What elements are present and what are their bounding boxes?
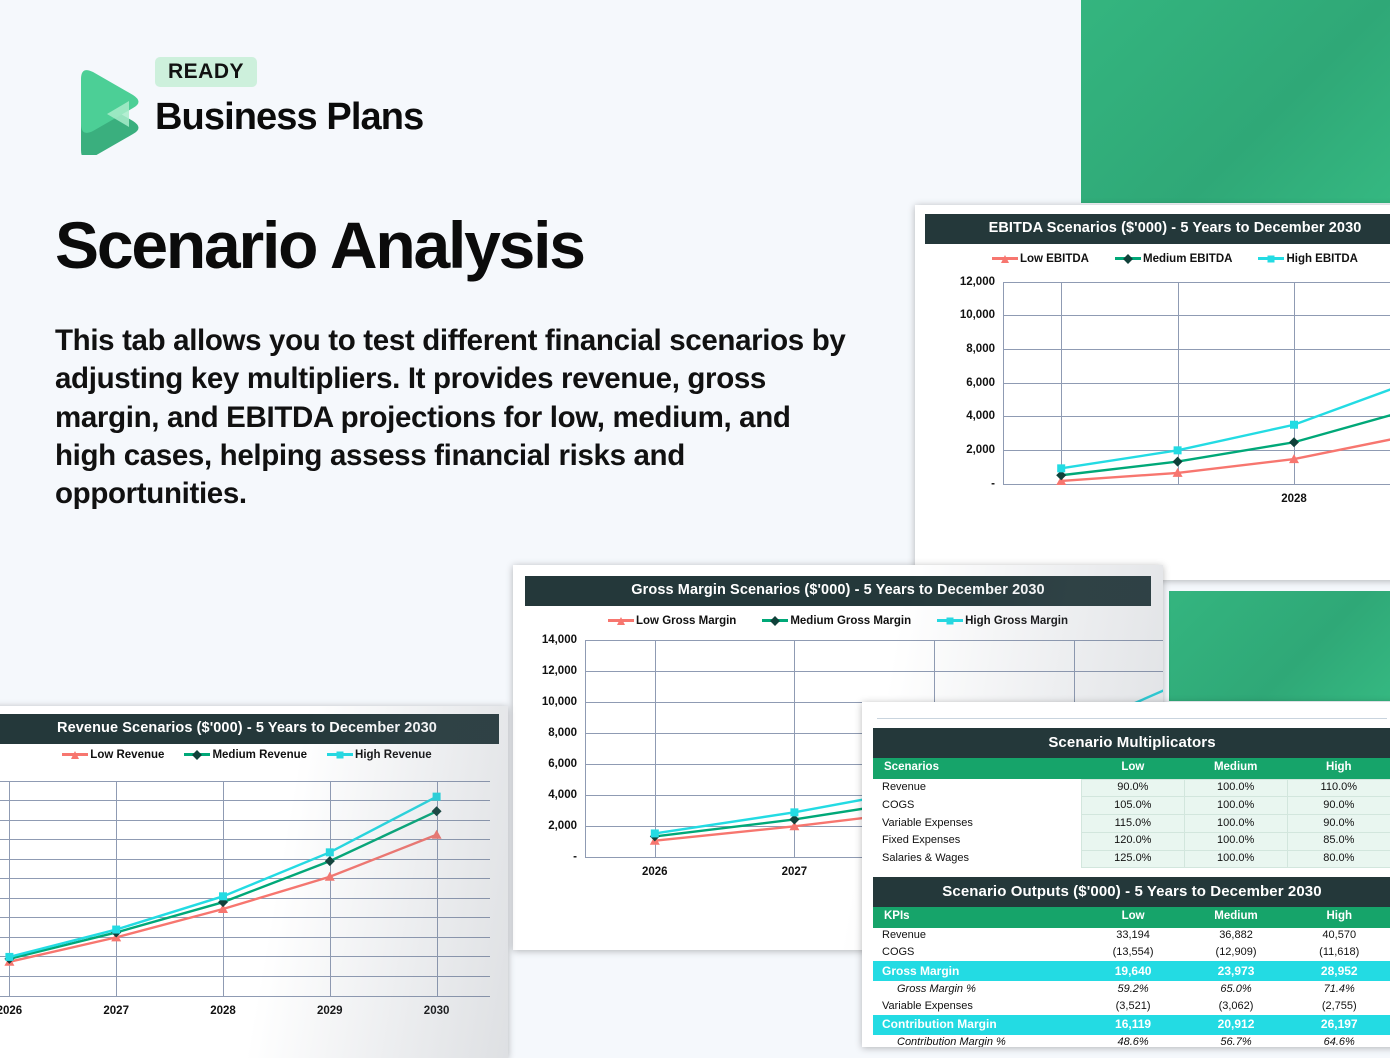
data-point — [5, 952, 13, 960]
data-point — [1290, 420, 1298, 428]
col-low: Low — [1081, 758, 1184, 779]
row-label: Gross Margin % — [873, 981, 1082, 998]
data-point — [432, 806, 442, 816]
row-label: Revenue — [873, 928, 1082, 945]
cell-low: 120.0% — [1081, 832, 1184, 850]
brand-header: READY Business Plans — [55, 55, 435, 160]
cell-high: 64.6% — [1288, 1035, 1390, 1047]
row-label: COGS — [873, 945, 1082, 962]
legend-label: High EBITDA — [1286, 253, 1358, 265]
play-triangle-logo-icon — [55, 55, 147, 155]
table-row: Revenue90.0%100.0%110.0% — [873, 779, 1390, 797]
cell-low: (13,554) — [1082, 945, 1185, 962]
data-point — [1173, 456, 1183, 466]
data-point — [1174, 446, 1182, 454]
cell-medium: (12,909) — [1185, 945, 1288, 962]
chart-title-revenue: Revenue Scenarios ($'000) - 5 Years to D… — [0, 714, 499, 744]
data-point — [219, 892, 227, 900]
row-label: Contribution Margin % — [873, 1035, 1082, 1047]
row-label: COGS — [873, 797, 1081, 815]
cell-high: 26,197 — [1288, 1015, 1390, 1035]
chart-legend-ebitda: Low EBITDA Medium EBITDA High EBITDA — [915, 244, 1390, 268]
cell-low: 59.2% — [1082, 981, 1185, 998]
table-row: Gross Margin19,64023,97328,952 — [873, 961, 1390, 981]
data-point — [112, 925, 120, 933]
chart-title-ebitda: EBITDA Scenarios ($'000) - 5 Years to De… — [925, 214, 1390, 244]
table-row: Revenue33,19436,88240,570 — [873, 928, 1390, 945]
legend-label: Low Gross Margin — [636, 615, 736, 627]
table-row: COGS105.0%100.0%90.0% — [873, 797, 1390, 815]
cell-low: 33,194 — [1082, 928, 1185, 945]
row-label: Fixed Expenses — [873, 832, 1081, 850]
legend-label: High Revenue — [355, 749, 432, 761]
cell-medium: 36,882 — [1185, 928, 1288, 945]
cell-high: 40,570 — [1288, 928, 1390, 945]
cell-medium: (3,062) — [1185, 998, 1288, 1015]
chart-legend-revenue: Low Revenue Medium Revenue High Revenue — [0, 744, 508, 763]
legend-item-medium-revenue: Medium Revenue — [184, 749, 307, 761]
cell-high: 80.0% — [1287, 850, 1390, 868]
cell-medium: 100.0% — [1184, 815, 1287, 833]
col-high: High — [1287, 758, 1390, 779]
table-header-row: Scenarios Low Medium High — [873, 758, 1390, 779]
plot-area-ebitda: -2,0004,0006,0008,00010,00012,0002028202… — [915, 268, 1390, 538]
table-row: Fixed Expenses120.0%100.0%85.0% — [873, 832, 1390, 850]
table-header-row: KPIs Low Medium High — [873, 907, 1390, 928]
table-row: COGS(13,554)(12,909)(11,618) — [873, 945, 1390, 962]
legend-item-low-gross-margin: Low Gross Margin — [608, 615, 736, 627]
col-low: Low — [1082, 907, 1185, 928]
legend-label: Medium Revenue — [212, 749, 307, 761]
col-scenarios: Scenarios — [873, 758, 1081, 779]
cell-medium: 100.0% — [1184, 797, 1287, 815]
cell-high: 110.0% — [1287, 779, 1390, 797]
col-medium: Medium — [1184, 758, 1287, 779]
cell-high: 90.0% — [1287, 815, 1390, 833]
row-label: Variable Expenses — [873, 815, 1081, 833]
cell-medium: 20,912 — [1185, 1015, 1288, 1035]
table-row: Gross Margin %59.2%65.0%71.4% — [873, 981, 1390, 998]
series-line-high-ebitda — [1061, 329, 1390, 468]
scenario-tables-panel: Scenario Multiplicators Scenarios Low Me… — [862, 702, 1390, 1047]
col-kpis: KPIs — [873, 907, 1082, 928]
cell-medium: 65.0% — [1185, 981, 1288, 998]
legend-item-medium-gross-margin: Medium Gross Margin — [762, 615, 911, 627]
cell-low: 48.6% — [1082, 1035, 1185, 1047]
cell-high: 28,952 — [1288, 961, 1390, 981]
series-line-medium-revenue — [9, 811, 436, 959]
cell-low: 90.0% — [1081, 779, 1184, 797]
cell-low: 125.0% — [1081, 850, 1184, 868]
cell-high: (2,755) — [1288, 998, 1390, 1015]
cell-medium: 100.0% — [1184, 779, 1287, 797]
plot-area-revenue: 20262027202820292030 — [0, 763, 508, 1038]
col-high: High — [1288, 907, 1390, 928]
data-point — [325, 856, 335, 866]
cell-high: 85.0% — [1287, 832, 1390, 850]
legend-item-high-ebitda: High EBITDA — [1258, 253, 1358, 265]
legend-label: Low EBITDA — [1020, 253, 1089, 265]
brand-text: READY Business Plans — [155, 57, 423, 136]
brand-name: Business Plans — [155, 98, 423, 136]
data-point — [432, 829, 442, 838]
cell-medium: 56.7% — [1185, 1035, 1288, 1047]
page-title: Scenario Analysis — [55, 212, 584, 278]
data-point — [1289, 437, 1299, 447]
table-row: Variable Expenses(3,521)(3,062)(2,755) — [873, 998, 1390, 1015]
data-point — [651, 829, 659, 837]
cell-high: (11,618) — [1288, 945, 1390, 962]
decorative-green-block-middle — [1169, 591, 1390, 701]
legend-item-low-ebitda: Low EBITDA — [992, 253, 1089, 265]
cell-low: (3,521) — [1082, 998, 1185, 1015]
table-multiplicators: Scenarios Low Medium High Revenue90.0%10… — [873, 758, 1390, 868]
chart-panel-revenue: Revenue Scenarios ($'000) - 5 Years to D… — [0, 706, 508, 1058]
cell-medium: 100.0% — [1184, 832, 1287, 850]
table-scenario-outputs: KPIs Low Medium High Revenue33,19436,882… — [873, 907, 1390, 1047]
series-line-high-revenue — [9, 796, 436, 956]
table-row: Contribution Margin %48.6%56.7%64.6% — [873, 1035, 1390, 1047]
cell-medium: 23,973 — [1185, 961, 1288, 981]
cell-low: 16,119 — [1082, 1015, 1185, 1035]
legend-item-high-gross-margin: High Gross Margin — [937, 615, 1068, 627]
row-label: Contribution Margin — [873, 1015, 1082, 1035]
chart-legend-gross-margin: Low Gross Margin Medium Gross Margin Hig… — [513, 606, 1163, 630]
cell-low: 115.0% — [1081, 815, 1184, 833]
legend-item-medium-ebitda: Medium EBITDA — [1115, 253, 1232, 265]
table-title-multiplicators: Scenario Multiplicators — [873, 728, 1390, 758]
legend-label: Medium Gross Margin — [790, 615, 911, 627]
data-point — [326, 848, 334, 856]
table-row: Contribution Margin16,11920,91226,197 — [873, 1015, 1390, 1035]
cell-high: 71.4% — [1288, 981, 1390, 998]
row-label: Variable Expenses — [873, 998, 1082, 1015]
table-row: Salaries & Wages125.0%100.0%80.0% — [873, 850, 1390, 868]
cell-low: 105.0% — [1081, 797, 1184, 815]
col-medium: Medium — [1185, 907, 1288, 928]
legend-label: High Gross Margin — [965, 615, 1068, 627]
row-label: Gross Margin — [873, 961, 1082, 981]
legend-label: Medium EBITDA — [1143, 253, 1232, 265]
series-line-medium-ebitda — [1061, 366, 1390, 475]
row-label: Salaries & Wages — [873, 850, 1081, 868]
chart-series-layer — [0, 763, 508, 1038]
chart-panel-ebitda: EBITDA Scenarios ($'000) - 5 Years to De… — [915, 205, 1390, 580]
chart-series-layer — [915, 268, 1390, 538]
page-description: This tab allows you to test different fi… — [55, 322, 855, 514]
data-point — [1057, 464, 1065, 472]
cell-high: 90.0% — [1287, 797, 1390, 815]
legend-item-low-revenue: Low Revenue — [62, 749, 164, 761]
chart-title-gross-margin: Gross Margin Scenarios ($'000) - 5 Years… — [525, 576, 1151, 606]
decorative-green-block-top — [1081, 0, 1390, 203]
cell-medium: 100.0% — [1184, 850, 1287, 868]
row-label: Revenue — [873, 779, 1081, 797]
legend-label: Low Revenue — [90, 749, 164, 761]
cell-low: 19,640 — [1082, 961, 1185, 981]
table-row: Variable Expenses115.0%100.0%90.0% — [873, 815, 1390, 833]
legend-item-high-revenue: High Revenue — [327, 749, 432, 761]
data-point — [790, 808, 798, 816]
data-point — [433, 792, 441, 800]
table-title-outputs: Scenario Outputs ($'000) - 5 Years to De… — [873, 877, 1390, 907]
ready-badge: READY — [155, 57, 257, 87]
